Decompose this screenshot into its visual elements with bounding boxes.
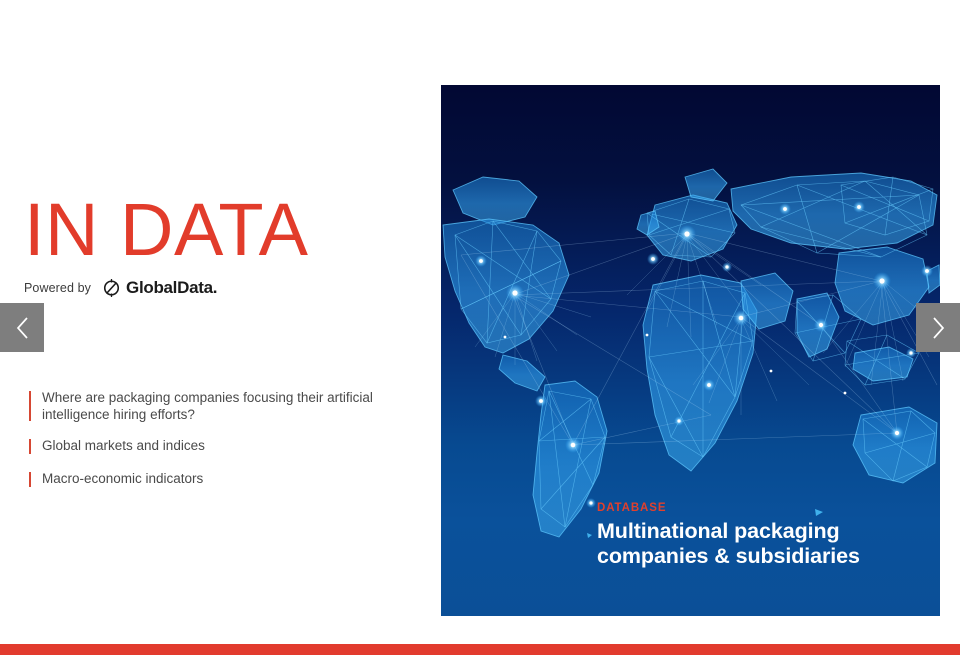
globaldata-wordmark: GlobalData. <box>126 278 217 298</box>
topic-link-label: Where are packaging companies focusing t… <box>42 390 419 423</box>
list-item[interactable]: Macro-economic indicators <box>29 471 419 489</box>
footer-accent-bar <box>0 644 960 655</box>
chevron-left-icon <box>15 316 30 340</box>
globaldata-logo: GlobalData. <box>101 278 217 299</box>
card-category-label: DATABASE <box>597 502 920 514</box>
powered-by-label: Powered by <box>24 281 91 295</box>
powered-by-row: Powered by GlobalData. <box>24 277 404 299</box>
chevron-right-icon <box>931 316 946 340</box>
topic-accent-bar <box>29 391 31 421</box>
carousel-prev-button[interactable] <box>0 303 44 352</box>
topic-accent-bar <box>29 439 31 454</box>
feature-card[interactable]: DATABASE Multinational packaging compani… <box>441 85 940 616</box>
topic-accent-bar <box>29 472 31 487</box>
brand-block: IN DATA Powered by GlobalData. <box>24 193 404 299</box>
list-item[interactable]: Global markets and indices <box>29 438 419 456</box>
carousel-next-button[interactable] <box>916 303 960 352</box>
topic-list: Where are packaging companies focusing t… <box>29 390 419 489</box>
card-title: Multinational packaging companies & subs… <box>597 519 920 568</box>
topic-link-label: Macro-economic indicators <box>42 471 419 488</box>
card-caption: DATABASE Multinational packaging compani… <box>597 502 920 568</box>
left-column: IN DATA Powered by GlobalData. Where are… <box>0 0 440 640</box>
topic-link-label: Global markets and indices <box>42 438 419 455</box>
list-item[interactable]: Where are packaging companies focusing t… <box>29 390 419 423</box>
page-title: IN DATA <box>24 193 404 267</box>
globaldata-circle-mark-icon <box>101 278 122 299</box>
